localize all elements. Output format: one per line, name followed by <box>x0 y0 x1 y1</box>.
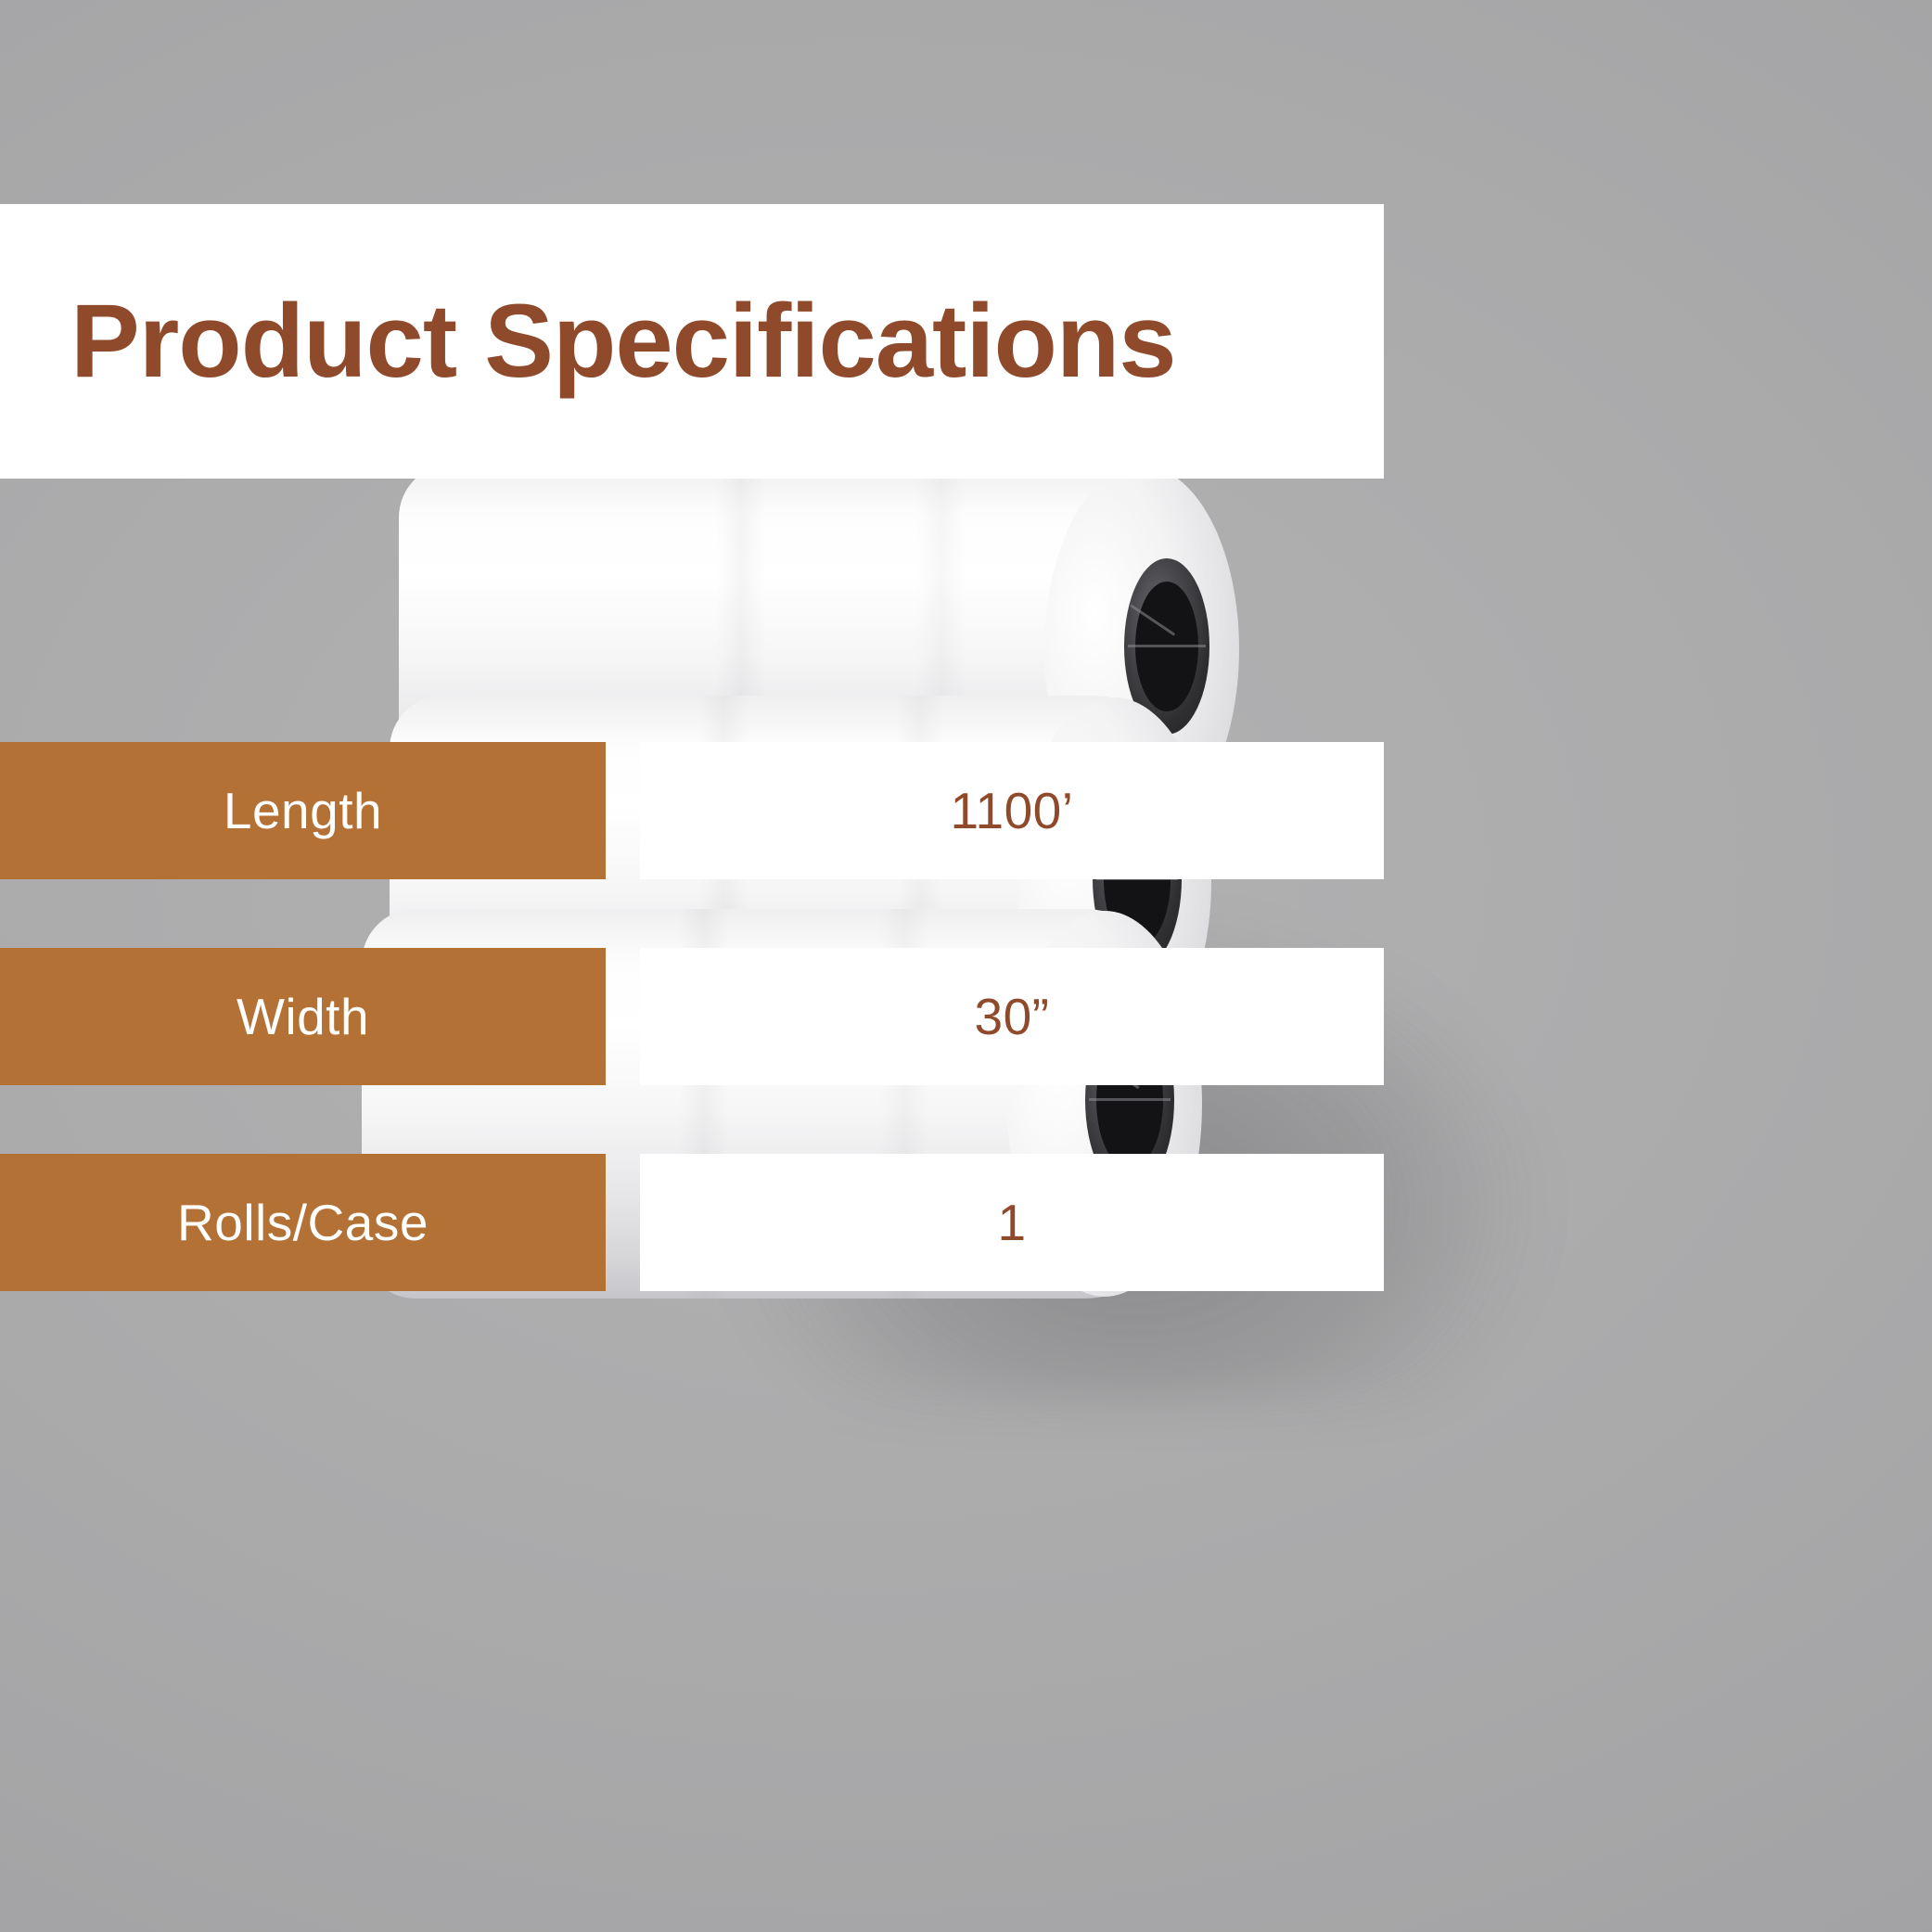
roll-core-spoke <box>1128 645 1207 647</box>
title-banner: Product Specifications <box>0 204 1384 479</box>
spec-row: Width 30” <box>0 948 1384 1085</box>
spec-label-width: Width <box>0 948 606 1085</box>
spec-label-length: Length <box>0 742 606 879</box>
spec-row: Length 1100’ <box>0 742 1384 879</box>
page-title: Product Specifications <box>70 289 1176 393</box>
spec-gap <box>606 742 640 879</box>
spec-value-rolls-per-case: 1 <box>640 1154 1384 1291</box>
spec-value-length: 1100’ <box>640 742 1384 879</box>
spec-value-width: 30” <box>640 948 1384 1085</box>
spec-gap <box>606 1154 640 1291</box>
roll-core-spoke <box>1089 1098 1171 1101</box>
spec-row: Rolls/Case 1 <box>0 1154 1384 1291</box>
spec-label-rolls-per-case: Rolls/Case <box>0 1154 606 1291</box>
spec-gap <box>606 948 640 1085</box>
product-spec-card: Product Specifications Length 1100’ Widt… <box>0 0 1932 1932</box>
